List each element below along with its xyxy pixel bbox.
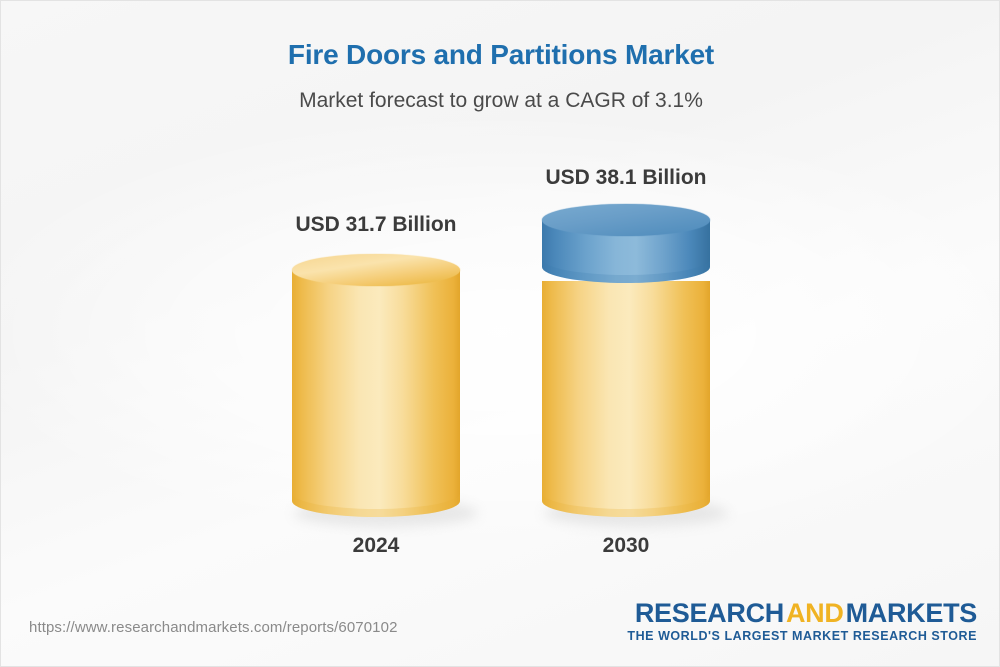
report-url[interactable]: https://www.researchandmarkets.com/repor… xyxy=(29,619,398,636)
bar-2024 xyxy=(292,254,478,527)
infographic-canvas: Fire Doors and Partitions Market Market … xyxy=(0,0,1000,667)
bar-2024-top-cap xyxy=(292,254,460,286)
bar-2030 xyxy=(542,204,728,527)
page-title: Fire Doors and Partitions Market xyxy=(1,39,1000,71)
logo-word-and: AND xyxy=(784,598,846,628)
data-label-2030: USD 38.1 Billion xyxy=(526,166,726,190)
category-label-2030: 2030 xyxy=(526,534,726,558)
page-subtitle: Market forecast to grow at a CAGR of 3.1… xyxy=(1,89,1000,113)
logo-word-markets: MARKETS xyxy=(846,598,977,628)
logo-word-research: RESEARCH xyxy=(635,598,784,628)
research-and-markets-logo[interactable]: RESEARCHANDMARKETS THE WORLD'S LARGEST M… xyxy=(627,599,977,643)
data-label-2024: USD 31.7 Billion xyxy=(276,213,476,237)
logo-wordmark: RESEARCHANDMARKETS xyxy=(627,599,977,627)
logo-tagline: THE WORLD'S LARGEST MARKET RESEARCH STOR… xyxy=(627,629,977,643)
bar-2030-top-cap xyxy=(542,204,710,236)
category-label-2024: 2024 xyxy=(276,534,476,558)
